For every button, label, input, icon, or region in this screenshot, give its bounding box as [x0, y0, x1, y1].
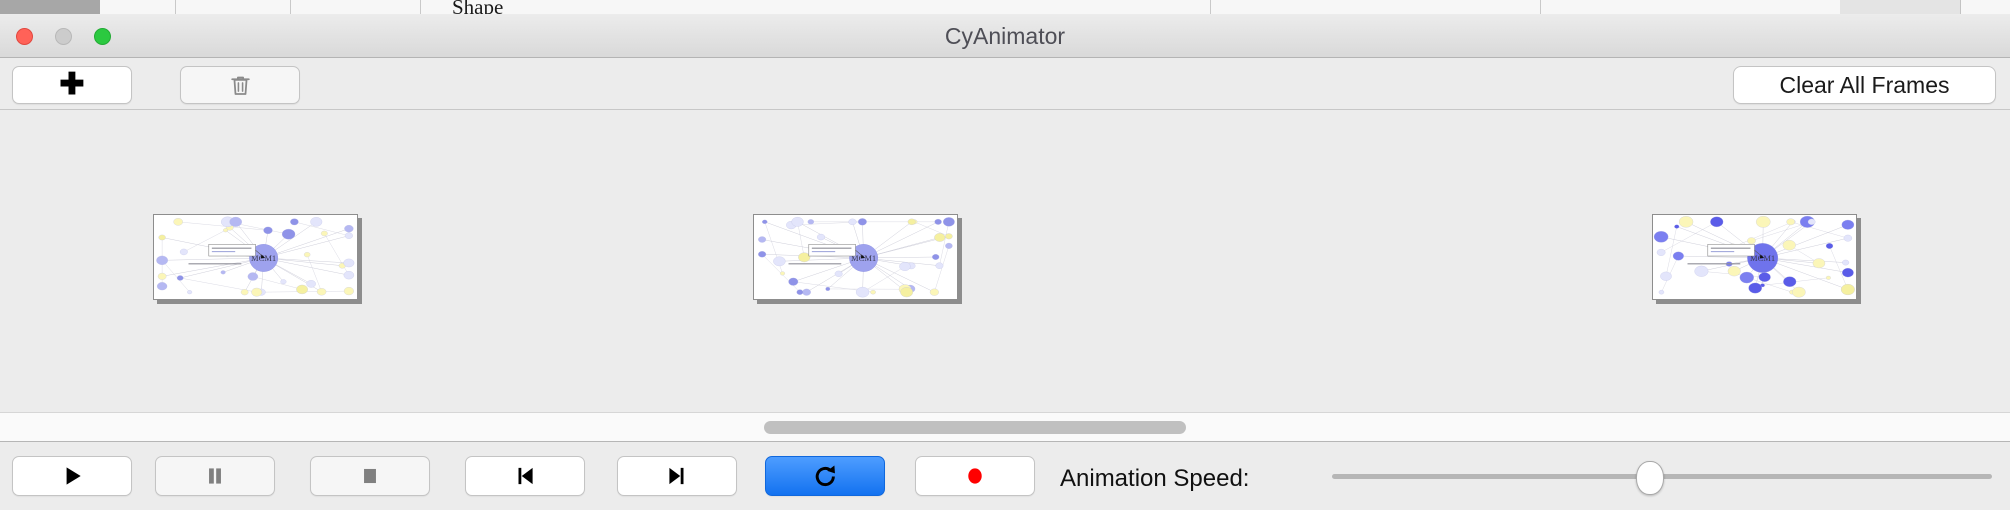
- add-frame-button[interactable]: ✚: [12, 66, 132, 104]
- background-window-divider: [175, 0, 176, 14]
- background-window-dark-strip: [0, 0, 100, 14]
- animation-speed-label: Animation Speed:: [1060, 465, 1249, 493]
- clear-all-frames-button[interactable]: Clear All Frames: [1733, 66, 1996, 104]
- background-window-divider: [1540, 0, 1541, 14]
- background-window-chip: [1840, 0, 1961, 14]
- background-window-divider: [420, 0, 421, 14]
- timeline-panel[interactable]: MCM1MCM1MCM1 12131415161718 Seconds: [0, 110, 2010, 410]
- timeline-scrollbar[interactable]: [0, 412, 2010, 442]
- record-icon: [962, 463, 988, 489]
- loop-button[interactable]: [765, 456, 885, 496]
- frame-thumbnail[interactable]: MCM1: [753, 214, 958, 300]
- delete-frame-button[interactable]: [180, 66, 300, 104]
- skip-forward-button[interactable]: [617, 456, 737, 496]
- background-window-sliver: Shape: [0, 0, 2010, 15]
- trash-icon: [228, 73, 253, 98]
- cyanimator-window: Shape CyAnimator ✚ Clear All Frames MCM1…: [0, 0, 2010, 510]
- title-bar: CyAnimator: [0, 14, 2010, 58]
- scrollbar-thumb[interactable]: [764, 421, 1186, 434]
- frame-thumbnail-image: MCM1: [1652, 214, 1857, 300]
- toolbar: ✚ Clear All Frames: [0, 58, 2010, 110]
- background-window-divider: [1210, 0, 1211, 14]
- pause-icon: [202, 463, 228, 489]
- frame-thumbnail[interactable]: MCM1: [1652, 214, 1857, 300]
- plus-icon: ✚: [59, 70, 84, 100]
- page-title: CyAnimator: [0, 23, 2010, 50]
- pause-button[interactable]: [155, 456, 275, 496]
- background-window-text: Shape: [452, 0, 503, 15]
- play-icon: [59, 463, 85, 489]
- playback-controls: Animation Speed:: [0, 443, 2010, 510]
- animation-speed-slider[interactable]: [1332, 474, 1992, 479]
- record-button[interactable]: [915, 456, 1035, 496]
- stop-button[interactable]: [310, 456, 430, 496]
- background-window-divider: [290, 0, 291, 14]
- speed-slider-thumb[interactable]: [1636, 461, 1664, 495]
- skip-back-icon: [512, 463, 538, 489]
- frame-thumbnail-image: MCM1: [753, 214, 958, 300]
- frame-thumbnail-image: MCM1: [153, 214, 358, 300]
- skip-forward-icon: [664, 463, 690, 489]
- loop-icon: [812, 463, 839, 490]
- frame-thumbnail[interactable]: MCM1: [153, 214, 358, 300]
- skip-back-button[interactable]: [465, 456, 585, 496]
- play-button[interactable]: [12, 456, 132, 496]
- stop-icon: [357, 463, 383, 489]
